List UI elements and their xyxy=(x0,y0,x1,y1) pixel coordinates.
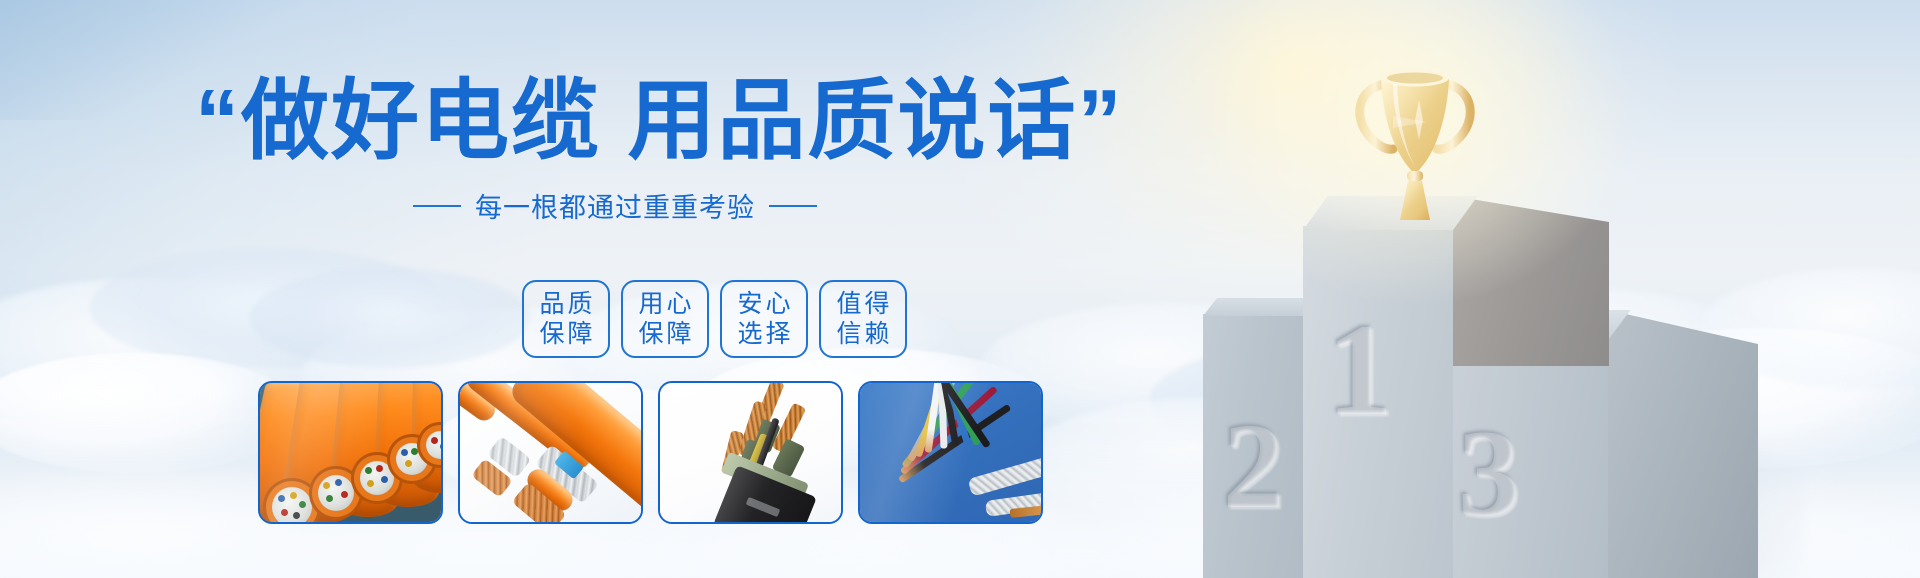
podium-block-third: 3 xyxy=(1430,336,1608,578)
badge-line-1: 值得 xyxy=(833,289,892,320)
product-card-orange-shielded[interactable] xyxy=(458,381,643,524)
badge-line-1: 品质 xyxy=(536,289,595,320)
trophy-icon xyxy=(1335,48,1495,228)
badge-line-1: 安心 xyxy=(734,289,793,320)
subtitle-row: 每一根都通过重重考验 xyxy=(420,186,810,225)
cable-quality-banner: 3 2 1 xyxy=(0,0,1920,578)
badge-safe-choice[interactable]: 安心 选择 xyxy=(720,280,808,358)
product-card-multicolor-wires[interactable] xyxy=(858,381,1043,524)
badge-line-2: 选择 xyxy=(734,319,793,350)
product-card-black-power-cable[interactable] xyxy=(658,381,843,524)
badge-line-2: 保障 xyxy=(536,319,595,350)
feature-badges: 品质 保障 用心 保障 安心 选择 值得 信赖 xyxy=(522,280,907,358)
badge-trustworthy[interactable]: 值得 信赖 xyxy=(819,280,907,358)
page-title: “做好电缆 用品质说话” xyxy=(195,74,1123,167)
black-copper-power-cable-photo xyxy=(660,383,841,522)
subtitle: 每一根都通过重重考验 xyxy=(475,186,755,225)
badge-line-2: 信赖 xyxy=(833,319,892,350)
orange-multicore-cable-photo xyxy=(260,383,441,522)
product-photo-cards xyxy=(258,381,1043,524)
badge-quality-guarantee[interactable]: 品质 保障 xyxy=(522,280,610,358)
podium-number-1: 1 xyxy=(1327,304,1393,436)
podium-number-2: 2 xyxy=(1223,406,1284,528)
orange-shielded-cable-photo xyxy=(460,383,641,522)
subtitle-rule-left xyxy=(413,205,461,207)
badge-careful-guarantee[interactable]: 用心 保障 xyxy=(621,280,709,358)
subtitle-rule-right xyxy=(769,205,817,207)
podium-number-3: 3 xyxy=(1458,412,1520,536)
multicolor-shielded-wires-photo xyxy=(860,383,1041,522)
product-card-orange-multicore[interactable] xyxy=(258,381,443,524)
badge-line-2: 保障 xyxy=(635,319,694,350)
badge-line-1: 用心 xyxy=(635,289,694,320)
